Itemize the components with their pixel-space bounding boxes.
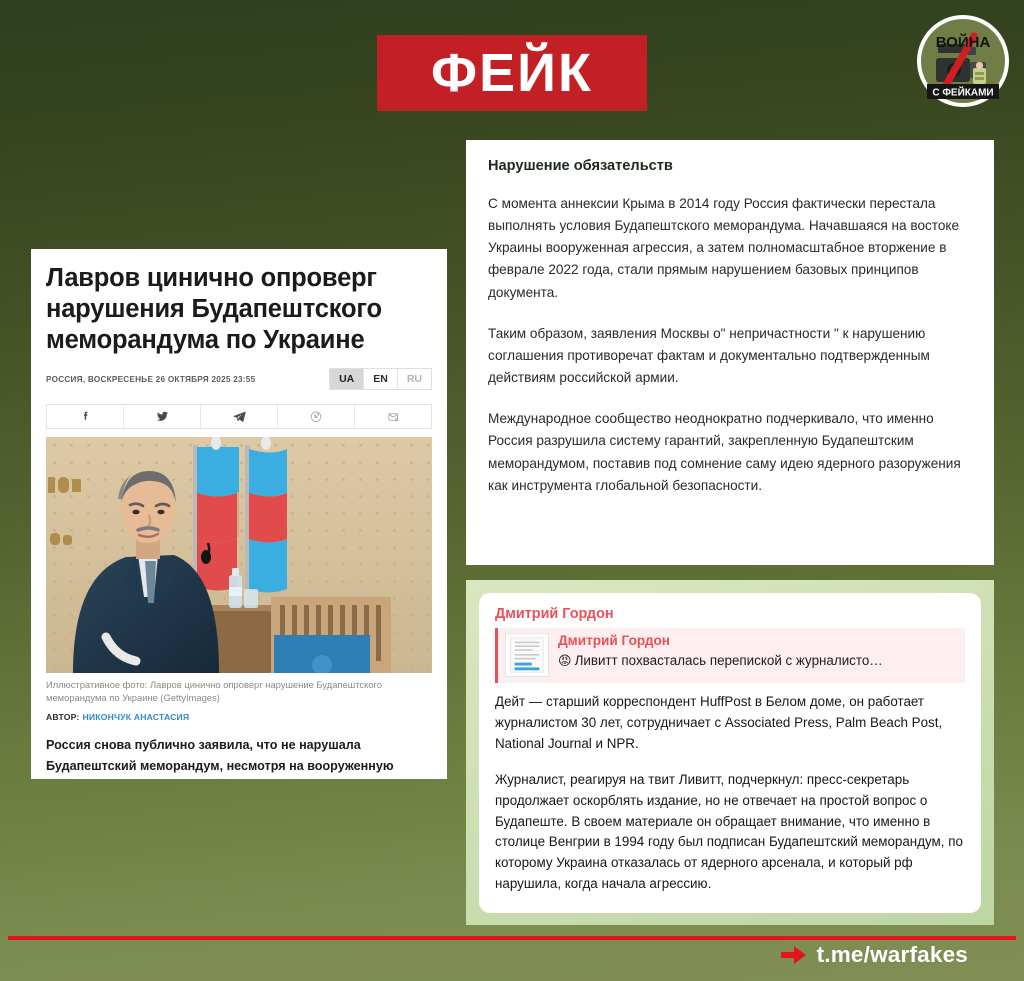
footer-handle[interactable]: t.me/warfakes (781, 944, 968, 967)
right-arrow-icon (781, 946, 806, 964)
author-name[interactable]: НИКОНЧУК АНАСТАСИЯ (83, 712, 190, 722)
text-panel-paragraph-1: С момента аннексии Крыма в 2014 году Рос… (488, 193, 972, 304)
text-panel-heading: Нарушение обязательств (488, 158, 972, 174)
telegram-inline-link[interactable]: подчеркнул (728, 772, 800, 787)
author-label: АВТОР: (46, 712, 80, 722)
telegram-quote-text-value: Ливитт похвасталась перепиской с журнали… (575, 653, 883, 668)
telegram-quote-text: 😡Ливитт похвасталась перепиской с журнал… (558, 652, 957, 670)
share-twitter-button[interactable] (124, 405, 201, 428)
twitter-icon (155, 409, 170, 424)
fake-banner: ФЕЙК (377, 35, 647, 111)
article-lead: Россия снова публично заявила, что не на… (46, 735, 428, 779)
telegram-icon (232, 409, 247, 424)
language-switcher[interactable]: UA EN RU (329, 368, 432, 390)
telegram-quoted-message[interactable]: Дмитрий Гордон 😡Ливитт похвасталась пере… (495, 628, 965, 683)
lang-option-ua[interactable]: UA (330, 369, 364, 389)
share-facebook-button[interactable] (47, 405, 124, 428)
telegram-inline-link[interactable]: обращает внимание (715, 814, 841, 829)
logo-bottom-text: С ФЕЙКАМИ (932, 86, 993, 99)
share-email-button[interactable] (355, 405, 431, 428)
telegram-channel-title: Дмитрий Гордон (495, 606, 965, 622)
document-thumbnail-icon (505, 633, 549, 677)
telegram-body-paragraph-1: Дейт — старший корреспондент HuffPost в … (495, 692, 965, 755)
article-card: Лавров цинично опроверг нарушения Будапе… (31, 249, 447, 779)
lang-option-ru[interactable]: RU (398, 369, 431, 389)
share-viber-button[interactable] (278, 405, 355, 428)
fake-banner-label: ФЕЙК (431, 46, 593, 100)
article-photo (46, 437, 432, 673)
text-panel-paragraph-3: Международное сообщество неоднократно по… (488, 408, 972, 497)
lang-option-en[interactable]: EN (364, 369, 398, 389)
share-row[interactable] (46, 404, 432, 429)
telegram-inline-link[interactable]: работает (868, 694, 924, 709)
email-icon (386, 410, 401, 424)
author-line: АВТОР:НИКОНЧУК АНАСТАСИЯ (46, 712, 432, 722)
photo-caption: Иллюстративное фото: Лавров цинично опро… (46, 679, 426, 705)
footer-divider (8, 936, 1016, 940)
telegram-message-card: Дмитрий Гордон Д (479, 593, 981, 913)
angry-face-emoji: 😡 (558, 653, 572, 668)
article-headline: Лавров цинично опроверг нарушения Будапе… (46, 263, 432, 356)
article-dateline: РОССИЯ, ВОСКРЕСЕНЬЕ 26 ОКТЯБРЯ 2025 23:5… (46, 375, 255, 384)
telegram-post-panel: Дмитрий Гордон Д (466, 580, 994, 925)
footer-handle-text: t.me/warfakes (817, 944, 968, 967)
telegram-body-paragraph-2: Журналист, реагируя на твит Ливитт, подч… (495, 770, 965, 895)
telegram-quote-author: Дмитрий Гордон (558, 633, 957, 650)
viber-icon (309, 410, 323, 424)
logo-graphic: ВОЙНА С ФЕЙКАМИ (916, 14, 1010, 108)
text-panel-paragraph-2: Таким образом, заявления Москвы о" непри… (488, 323, 972, 389)
violation-text-panel: Нарушение обязательств С момента аннекси… (466, 140, 994, 565)
share-telegram-button[interactable] (201, 405, 278, 428)
warfakes-logo: ВОЙНА С ФЕЙКАМИ (916, 14, 1010, 108)
logo-top-text: ВОЙНА (936, 33, 991, 51)
lavrov-press-conference-photo (46, 437, 432, 673)
article-meta-row: РОССИЯ, ВОСКРЕСЕНЬЕ 26 ОКТЯБРЯ 2025 23:5… (46, 368, 432, 396)
facebook-icon (79, 410, 92, 423)
